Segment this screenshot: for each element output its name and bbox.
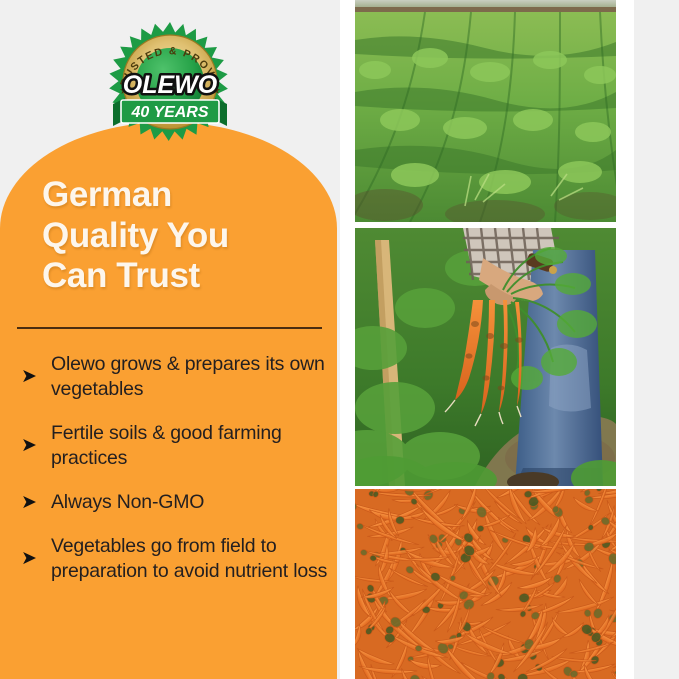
infographic-root: German Quality You Can Trust ➤ Olewo gro…: [0, 0, 679, 679]
list-item: ➤ Olewo grows & prepares its own vegetab…: [17, 352, 332, 402]
list-item-label: Always Non-GMO: [51, 490, 332, 515]
trusted-proven-seal-badge: TRUSTED & PROVEN ★ ★ OLEWO 40 YEARS: [105, 16, 235, 142]
right-margin-background: [634, 0, 679, 679]
svg-text:40 YEARS: 40 YEARS: [130, 104, 208, 121]
headline-line-3: Can Trust: [42, 256, 332, 297]
arrow-bullet-icon: ➤: [17, 493, 51, 512]
list-item-label: Vegetables go from field to preparation …: [51, 534, 332, 584]
list-item: ➤ Fertile soils & good farming practices: [17, 421, 332, 471]
list-item-label: Fertile soils & good farming practices: [51, 421, 332, 471]
list-item: ➤ Vegetables go from field to preparatio…: [17, 534, 332, 584]
olewo-wordmark: OLEWO: [123, 71, 218, 99]
list-item-label: Olewo grows & prepares its own vegetable…: [51, 352, 332, 402]
photo-carrot-field: [355, 0, 616, 222]
years-ribbon: 40 YEARS: [113, 98, 227, 126]
arrow-bullet-icon: ➤: [17, 436, 51, 455]
headline-line-1: German: [42, 175, 332, 216]
list-item: ➤ Always Non-GMO: [17, 490, 332, 515]
arrow-bullet-icon: ➤: [17, 549, 51, 568]
svg-text:OLEWO: OLEWO: [123, 71, 218, 99]
feature-bullet-list: ➤ Olewo grows & prepares its own vegetab…: [17, 352, 332, 603]
arrow-bullet-icon: ➤: [17, 367, 51, 386]
page-title: German Quality You Can Trust: [42, 175, 332, 297]
divider: [17, 327, 322, 329]
photo-farmer-holding-carrots: [355, 228, 616, 486]
photo-harvested-carrot-pile: [355, 489, 616, 679]
headline-line-2: Quality You: [42, 216, 332, 257]
